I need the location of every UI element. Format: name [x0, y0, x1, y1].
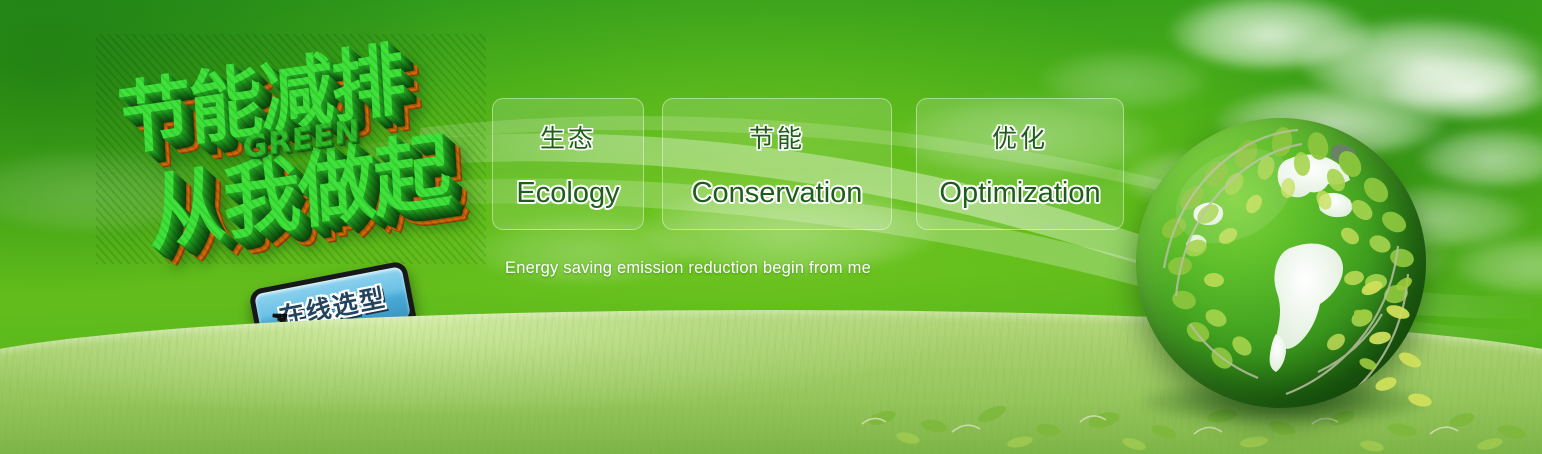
- eco-hero-banner: 节能减排 从我做起 GREEN 在线选型 生态 Ecology 节能 Conse…: [0, 0, 1542, 454]
- feature-card-title-en: Conservation: [692, 177, 863, 210]
- globe-sphere: [1136, 118, 1426, 408]
- globe-continents-icon: [1136, 118, 1426, 408]
- cloud-icon: [1300, 18, 1542, 104]
- feature-card-title-en: Ecology: [516, 177, 619, 210]
- cloud-icon: [1382, 56, 1542, 118]
- feature-card-title-cn: 节能: [749, 119, 805, 155]
- feature-card-title-cn: 生态: [540, 119, 596, 155]
- hero-title-artwork: 节能减排 从我做起 GREEN: [96, 34, 486, 264]
- feature-card-title-cn: 优化: [992, 119, 1048, 155]
- leafy-globe-graphic: [1136, 118, 1440, 422]
- feature-card-optimization[interactable]: 优化 Optimization: [916, 98, 1124, 230]
- feature-card-title-en: Optimization: [939, 177, 1100, 210]
- banner-tagline: Energy saving emission reduction begin f…: [505, 259, 871, 278]
- cloud-icon: [1170, 0, 1370, 68]
- cloud-icon: [1452, 236, 1542, 292]
- feature-card-ecology[interactable]: 生态 Ecology: [492, 98, 644, 230]
- feature-card-conservation[interactable]: 节能 Conservation: [662, 98, 892, 230]
